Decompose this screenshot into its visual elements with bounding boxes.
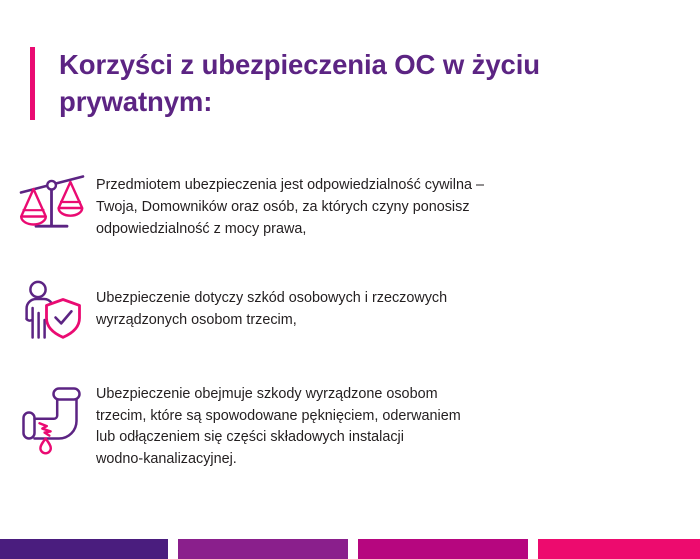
segment-dark-purple	[0, 539, 168, 559]
list-item: Ubezpieczenie obejmuje szkody wyrządzone…	[0, 379, 700, 472]
list-item-text: Ubezpieczenie obejmuje szkody wyrządzone…	[96, 379, 700, 472]
list-item: Przedmiotem ubezpieczenia jest odpowiedz…	[0, 163, 700, 241]
bottom-color-bar	[0, 539, 700, 559]
page-title: Korzyści z ubezpieczenia OC w życiu pryw…	[35, 47, 540, 120]
segment-magenta	[358, 539, 528, 559]
bar-gap	[168, 539, 178, 559]
person-with-shield-icon	[0, 277, 96, 346]
bar-gap	[528, 539, 538, 559]
scales-of-justice-icon	[0, 163, 96, 234]
page-title-block: Korzyści z ubezpieczenia OC w życiu pryw…	[30, 47, 640, 120]
list-item-text: Ubezpieczenie dotyczy szkód osobowych i …	[96, 277, 700, 332]
benefits-list: Przedmiotem ubezpieczenia jest odpowiedz…	[0, 163, 700, 471]
list-item: Ubezpieczenie dotyczy szkód osobowych i …	[0, 277, 700, 346]
segment-pink	[538, 539, 700, 559]
segment-purple	[178, 539, 348, 559]
slide-canvas: Korzyści z ubezpieczenia OC w życiu pryw…	[0, 0, 700, 559]
leaking-pipe-icon	[0, 379, 96, 455]
list-item-text: Przedmiotem ubezpieczenia jest odpowiedz…	[96, 163, 700, 241]
bar-gap	[348, 539, 358, 559]
